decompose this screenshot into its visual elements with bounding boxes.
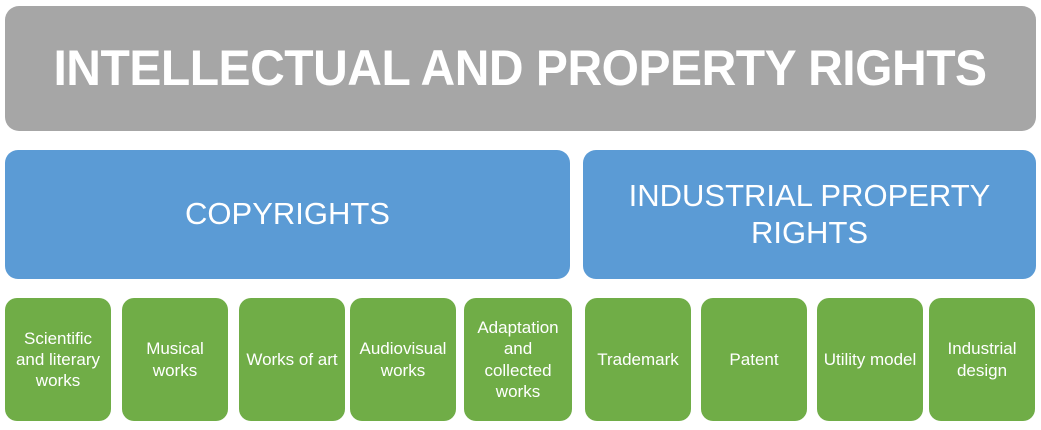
leaf-box-patent[interactable]: Patent: [701, 298, 807, 421]
leaf-box-utility-model[interactable]: Utility model: [817, 298, 923, 421]
leaf-box-industrial-design[interactable]: Industrial design: [929, 298, 1035, 421]
leaf-label: Works of art: [246, 349, 337, 370]
leaf-box-works-of-art[interactable]: Works of art: [239, 298, 345, 421]
category-box-industrial-property-rights[interactable]: INDUSTRIAL PROPERTY RIGHTS: [583, 150, 1036, 279]
category-label-copyrights: COPYRIGHTS: [185, 196, 390, 233]
leaf-label: Trademark: [597, 349, 679, 370]
leaf-label: Industrial design: [935, 338, 1029, 381]
category-box-copyrights[interactable]: COPYRIGHTS: [5, 150, 570, 279]
leaf-box-trademark[interactable]: Trademark: [585, 298, 691, 421]
leaf-box-musical-works[interactable]: Musical works: [122, 298, 228, 421]
diagram-title-banner: INTELLECTUAL AND PROPERTY RIGHTS: [5, 6, 1036, 131]
leaf-label: Patent: [729, 349, 778, 370]
leaf-label: Scientific and literary works: [11, 328, 105, 392]
leaf-box-adaptation-and-collected-works[interactable]: Adaptation and collected works: [464, 298, 572, 421]
page-title: INTELLECTUAL AND PROPERTY RIGHTS: [54, 42, 987, 95]
leaf-label: Adaptation and collected works: [470, 317, 566, 402]
leaf-label: Musical works: [128, 338, 222, 381]
leaf-row: Scientific and literary works Musical wo…: [0, 298, 1041, 422]
intellectual-property-rights-diagram: INTELLECTUAL AND PROPERTY RIGHTS COPYRIG…: [0, 0, 1041, 430]
leaf-box-audiovisual-works[interactable]: Audiovisual works: [350, 298, 456, 421]
leaf-label: Audiovisual works: [356, 338, 450, 381]
leaf-box-scientific-and-literary-works[interactable]: Scientific and literary works: [5, 298, 111, 421]
leaf-label: Utility model: [824, 349, 917, 370]
category-label-industrial-property-rights: INDUSTRIAL PROPERTY RIGHTS: [597, 178, 1022, 251]
category-row: COPYRIGHTS INDUSTRIAL PROPERTY RIGHTS: [0, 150, 1041, 279]
